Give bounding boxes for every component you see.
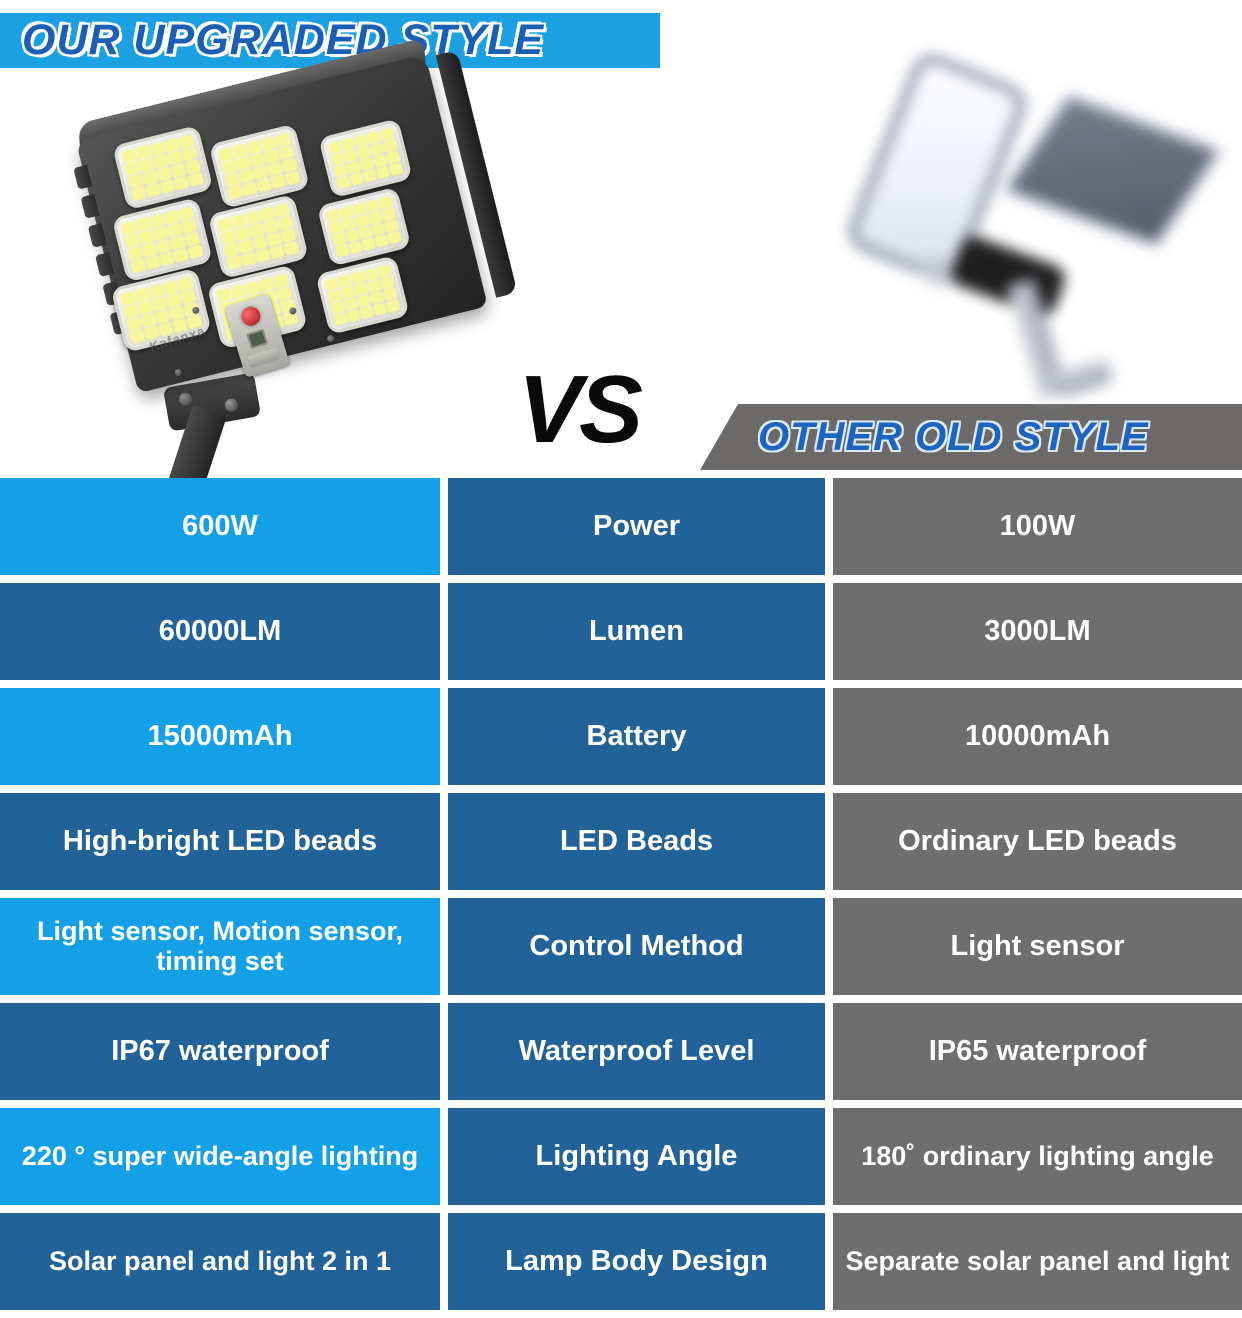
table-row: Solar panel and light 2 in 1 Lamp Body D… bbox=[0, 1213, 1242, 1310]
cell-ours: High-bright LED beads bbox=[0, 793, 440, 890]
cell-theirs: Separate solar panel and light bbox=[833, 1213, 1242, 1310]
vs-label: VS bbox=[518, 362, 640, 458]
cell-theirs: Ordinary LED beads bbox=[833, 793, 1242, 890]
table-row: 600W Power 100W bbox=[0, 478, 1242, 575]
cell-theirs: 100W bbox=[833, 478, 1242, 575]
cell-ours: Solar panel and light 2 in 1 bbox=[0, 1213, 440, 1310]
banner-other-old-style: OTHER OLD STYLE bbox=[700, 404, 1242, 470]
cell-ours: Light sensor, Motion sensor, timing set bbox=[0, 898, 440, 995]
table-row: Light sensor, Motion sensor, timing set … bbox=[0, 898, 1242, 995]
old-lamp-base bbox=[947, 233, 1068, 319]
lamp-assembly: Kafanxa bbox=[76, 49, 525, 461]
cell-feature: Waterproof Level bbox=[448, 1003, 825, 1100]
cell-ours: 15000mAh bbox=[0, 688, 440, 785]
cell-theirs: Light sensor bbox=[833, 898, 1242, 995]
cell-theirs: IP65 waterproof bbox=[833, 1003, 1242, 1100]
comparison-table: 600W Power 100W 60000LM Lumen 3000LM 150… bbox=[0, 478, 1242, 1318]
old-street-light-image bbox=[855, 45, 1215, 405]
cell-ours: 60000LM bbox=[0, 583, 440, 680]
indicator-light-icon bbox=[239, 304, 263, 328]
cell-feature: Power bbox=[448, 478, 825, 575]
table-row: 60000LM Lumen 3000LM bbox=[0, 583, 1242, 680]
old-solar-panel bbox=[1002, 93, 1223, 248]
banner-left-label: OUR UPGRADED STYLE bbox=[22, 19, 544, 62]
hero-section: OUR UPGRADED STYLE OTHER OLD STYLE VS bbox=[0, 0, 1242, 478]
control-slot bbox=[248, 348, 280, 368]
cell-feature: Battery bbox=[448, 688, 825, 785]
cell-ours: 600W bbox=[0, 478, 440, 575]
table-row: 220 ° super wide-angle lighting Lighting… bbox=[0, 1108, 1242, 1205]
table-row: 15000mAh Battery 10000mAh bbox=[0, 688, 1242, 785]
cell-feature: Control Method bbox=[448, 898, 825, 995]
cell-feature: Lighting Angle bbox=[448, 1108, 825, 1205]
table-row: High-bright LED beads LED Beads Ordinary… bbox=[0, 793, 1242, 890]
cell-theirs: 10000mAh bbox=[833, 688, 1242, 785]
cell-feature: Lumen bbox=[448, 583, 825, 680]
motion-sensor-icon bbox=[246, 329, 268, 350]
cell-theirs: 3000LM bbox=[833, 583, 1242, 680]
cell-ours: 220 ° super wide-angle lighting bbox=[0, 1108, 440, 1205]
cell-feature: Lamp Body Design bbox=[448, 1213, 825, 1310]
cell-ours: IP67 waterproof bbox=[0, 1003, 440, 1100]
banner-right-label: OTHER OLD STYLE bbox=[758, 417, 1149, 457]
cell-theirs: 180˚ ordinary lighting angle bbox=[833, 1108, 1242, 1205]
table-row: IP67 waterproof Waterproof Level IP65 wa… bbox=[0, 1003, 1242, 1100]
cell-feature: LED Beads bbox=[448, 793, 825, 890]
new-street-light-image: Kafanxa bbox=[70, 80, 520, 480]
